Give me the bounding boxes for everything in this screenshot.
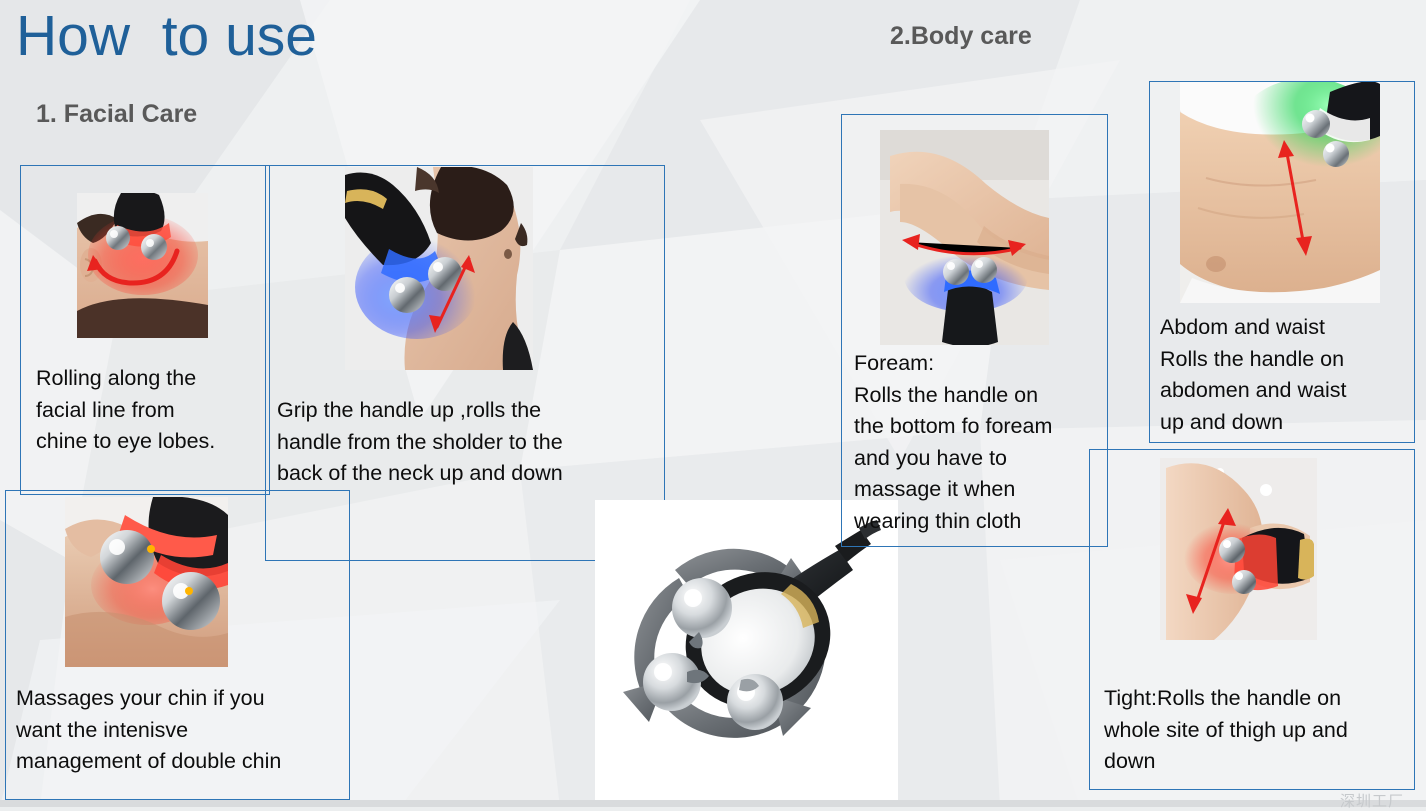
slide-canvas: How to use 1. Facial Care 2.Body care — [0, 0, 1426, 807]
caption-facial-chin: Massages your chin if you want the inten… — [16, 683, 346, 778]
section-heading-facial-care: 1. Facial Care — [36, 100, 197, 129]
neck-blue-led-photo — [345, 167, 533, 370]
forearm-blue-led-photo — [880, 130, 1049, 345]
caption-facial-neck: Grip the handle up ,rolls the handle fro… — [277, 395, 657, 490]
watermark-text: 深圳工厂 — [1340, 790, 1404, 811]
chin-red-led-photo — [65, 497, 228, 667]
caption-body-forearm: Foream: Rolls the handle on the bottom f… — [854, 348, 1104, 537]
page-title: How to use — [16, 6, 317, 66]
jawline-red-led-photo — [77, 193, 208, 338]
section-heading-body-care: 2.Body care — [890, 22, 1032, 51]
caption-body-abdomen: Abdom and waist Rolls the handle on abdo… — [1160, 312, 1410, 438]
thigh-red-led-photo — [1160, 458, 1317, 640]
caption-facial-jawline: Rolling along the facial line from chine… — [36, 363, 262, 458]
abdomen-green-led-photo — [1180, 82, 1380, 303]
caption-body-thigh: Tight:Rolls the handle on whole site of … — [1104, 683, 1424, 778]
